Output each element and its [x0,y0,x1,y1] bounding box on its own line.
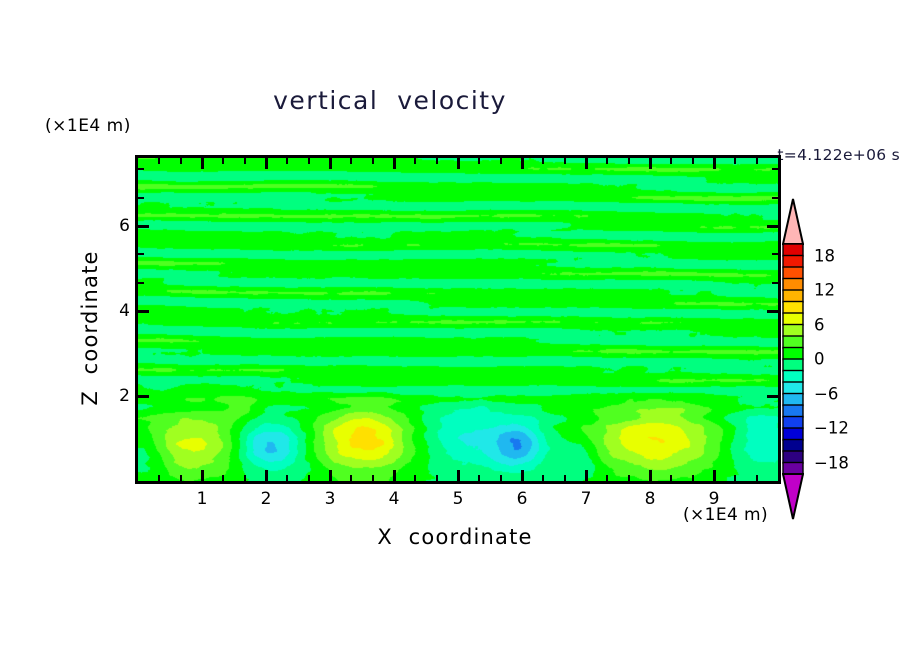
y-axis-minor-tick [772,253,778,255]
x-axis-major-tick [713,470,716,481]
x-axis-tick-label: 4 [389,489,400,509]
y-axis-minor-tick [772,168,778,170]
y-axis-major-tick [767,395,778,398]
colorbar-band [783,256,803,268]
y-axis-major-tick [138,310,149,313]
x-axis-major-tick [393,158,396,169]
x-axis-major-tick [649,470,652,481]
colorbar-band [783,417,803,429]
vertical-velocity-field [138,158,778,481]
colorbar-band [783,440,803,452]
x-axis-minor-tick [628,475,630,481]
x-axis-minor-tick [564,475,566,481]
x-axis-tick-label: 8 [645,489,656,509]
y-axis-tick-label: 2 [106,386,130,406]
y-axis-major-tick [138,395,149,398]
colorbar-tick-label: 18 [814,246,835,265]
x-axis-minor-tick [734,158,736,164]
x-axis-minor-tick [606,475,608,481]
x-axis-minor-tick [180,158,182,164]
colorbar-swatches [782,198,804,520]
x-axis-minor-tick [350,158,352,164]
colorbar-band [783,325,803,337]
x-axis-minor-tick [286,475,288,481]
x-axis-tick-label: 2 [261,489,272,509]
colorbar-under-arrow [783,474,803,519]
colorbar: 181260−6−12−18 [782,198,804,520]
colorbar-over-arrow [783,199,803,244]
x-axis-major-tick [521,158,524,169]
x-axis-major-tick [201,158,204,169]
z-axis-units-label: (×1E4 m) [45,116,131,136]
x-axis-minor-tick [222,475,224,481]
x-axis-minor-tick [692,475,694,481]
colorbar-band [783,302,803,314]
y-axis-title: Z coordinate [78,218,102,438]
x-axis-minor-tick [244,475,246,481]
x-axis-tick-label: 5 [453,489,464,509]
x-axis-minor-tick [756,158,758,164]
y-axis-minor-tick [138,197,144,199]
colorbar-tick-label: −6 [814,384,838,403]
colorbar-band [783,451,803,463]
x-axis-minor-tick [308,475,310,481]
x-axis-minor-tick [478,158,480,164]
x-axis-minor-tick [756,475,758,481]
colorbar-band [783,394,803,406]
colorbar-band [783,267,803,279]
x-axis-title: X coordinate [135,525,775,549]
x-axis-major-tick [649,158,652,169]
colorbar-tick-label: 0 [814,350,825,369]
x-axis-minor-tick [436,158,438,164]
x-axis-minor-tick [222,158,224,164]
y-axis-minor-tick [138,168,144,170]
colorbar-band [783,313,803,325]
x-axis-major-tick [457,470,460,481]
x-axis-major-tick [457,158,460,169]
x-axis-minor-tick [500,475,502,481]
x-axis-minor-tick [606,158,608,164]
x-axis-minor-tick [500,158,502,164]
x-axis-minor-tick [628,158,630,164]
x-axis-minor-tick [478,475,480,481]
timestamp-label: t=4.122e+06 s [777,146,900,164]
x-axis-minor-tick [180,475,182,481]
x-axis-minor-tick [542,158,544,164]
x-axis-minor-tick [244,158,246,164]
y-axis-major-tick [138,225,149,228]
x-axis-major-tick [329,470,332,481]
colorbar-tick-label: −12 [814,419,849,438]
x-axis-minor-tick [564,158,566,164]
x-axis-minor-tick [542,475,544,481]
x-axis-major-tick [201,470,204,481]
y-axis-tick-label: 4 [106,301,130,321]
x-axis-major-tick [521,470,524,481]
colorbar-tick-label: 12 [814,281,835,300]
x-axis-minor-tick [350,475,352,481]
y-axis-tick-label: 6 [106,216,130,236]
x-axis-tick-label: 7 [581,489,592,509]
x-axis-tick-label: 6 [517,489,528,509]
x-axis-major-tick [585,158,588,169]
colorbar-band [783,244,803,256]
x-axis-minor-tick [308,158,310,164]
x-axis-major-tick [265,470,268,481]
colorbar-band [783,336,803,348]
x-axis-major-tick [713,158,716,169]
colorbar-band [783,290,803,302]
x-axis-minor-tick [372,158,374,164]
y-axis-minor-tick [138,282,144,284]
contour-plot-area [135,155,781,484]
y-axis-minor-tick [772,197,778,199]
x-axis-units-label: (×1E4 m) [683,505,768,525]
x-axis-tick-label: 3 [325,489,336,509]
x-axis-minor-tick [372,475,374,481]
x-axis-minor-tick [670,475,672,481]
y-axis-minor-tick [138,253,144,255]
y-axis-major-tick [767,225,778,228]
colorbar-band [783,359,803,371]
x-axis-tick-label: 1 [197,489,208,509]
colorbar-band [783,382,803,394]
colorbar-tick-label: 6 [814,315,825,334]
x-axis-major-tick [265,158,268,169]
colorbar-band [783,279,803,291]
y-axis-minor-tick [772,282,778,284]
colorbar-band [783,405,803,417]
colorbar-tick-label: −18 [814,453,849,472]
x-axis-minor-tick [692,158,694,164]
x-axis-major-tick [329,158,332,169]
colorbar-band [783,463,803,475]
x-axis-minor-tick [158,475,160,481]
colorbar-band [783,428,803,440]
colorbar-band [783,348,803,360]
y-axis-major-tick [767,310,778,313]
x-axis-major-tick [393,470,396,481]
colorbar-band [783,371,803,383]
page-title: vertical velocity [0,86,780,115]
x-axis-minor-tick [158,158,160,164]
x-axis-minor-tick [670,158,672,164]
x-axis-minor-tick [734,475,736,481]
x-axis-major-tick [585,470,588,481]
x-axis-minor-tick [414,475,416,481]
x-axis-minor-tick [414,158,416,164]
x-axis-minor-tick [436,475,438,481]
x-axis-minor-tick [286,158,288,164]
